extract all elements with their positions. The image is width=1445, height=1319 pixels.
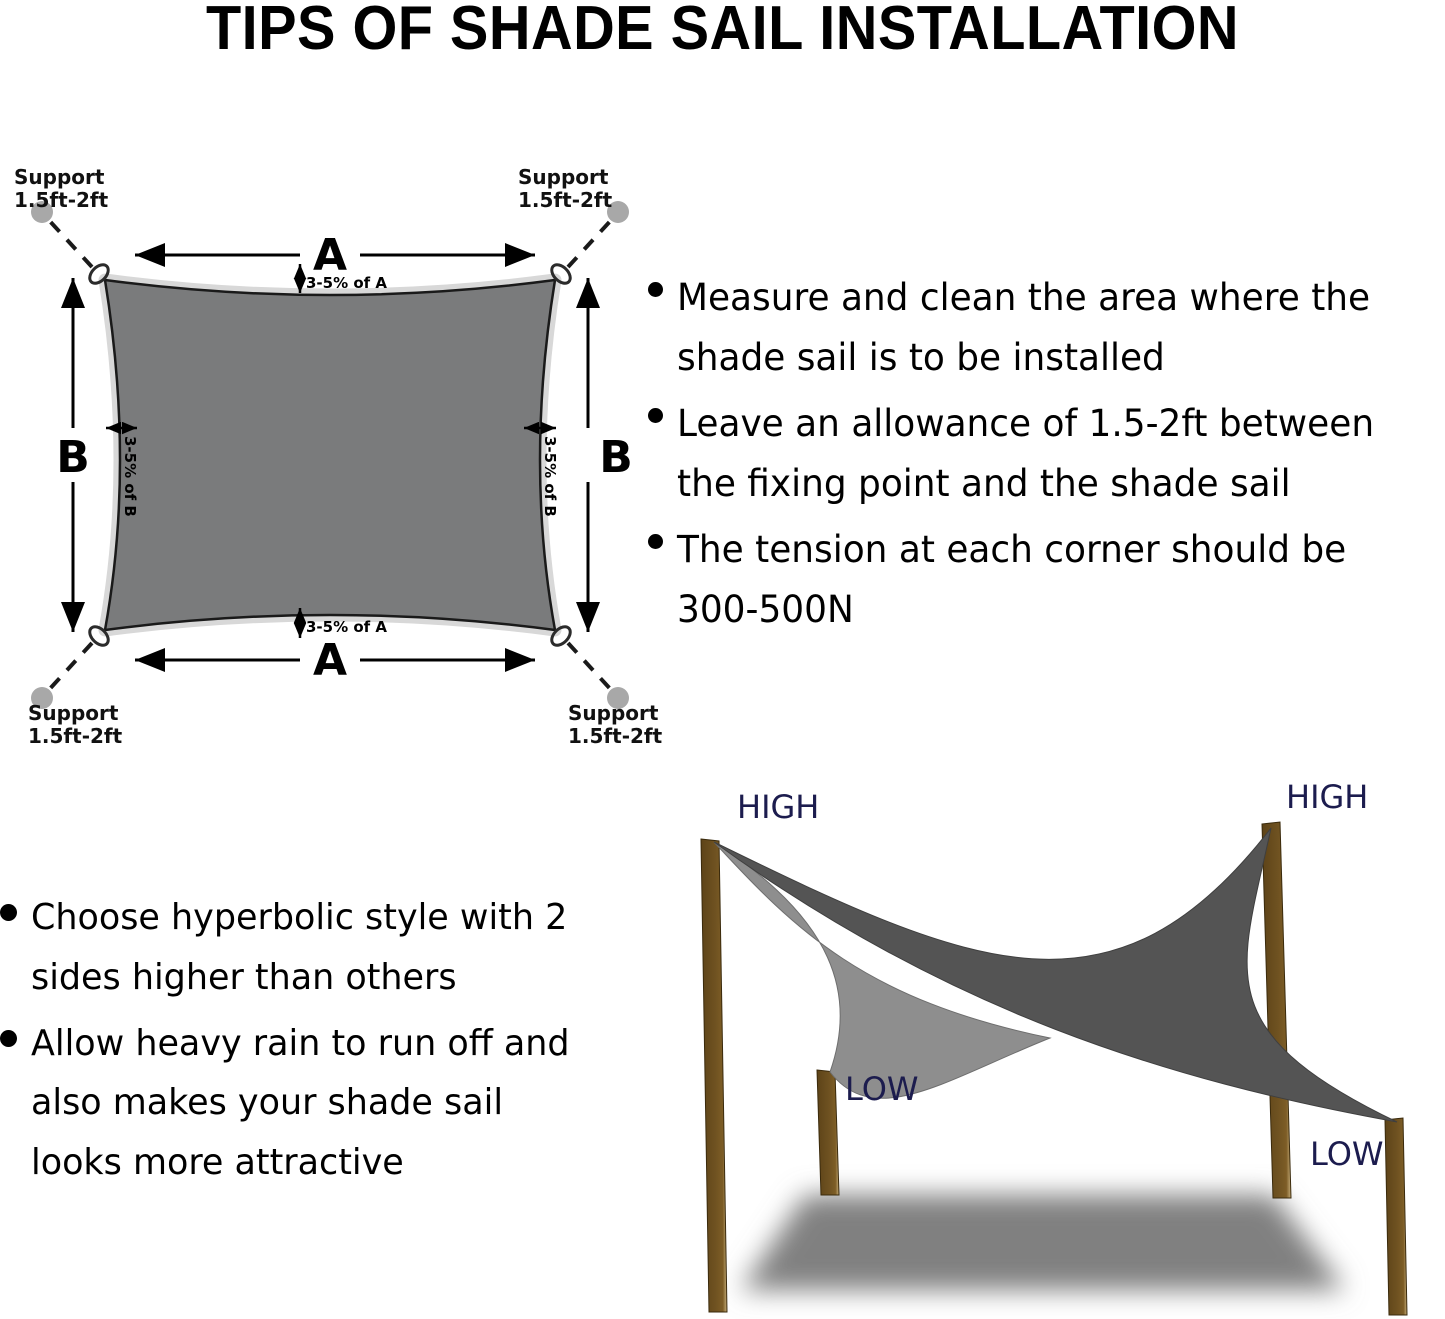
bullet-dot-icon xyxy=(0,1030,17,1047)
dimension-b-left-label: B xyxy=(56,432,90,483)
sail-shape xyxy=(105,280,555,630)
page-title: TIPS OF SHADE SAIL INSTALLATION xyxy=(51,0,1395,63)
dimension-b-right: B xyxy=(588,278,633,632)
rectangular-sail-diagram: Support 1.5ft-2ft Support 1.5ft-2ft Supp… xyxy=(0,160,660,740)
dimension-a-bottom-label: A xyxy=(313,635,347,686)
curvature-left-label: 3-5% of B xyxy=(121,436,139,517)
list-item: Choose hyperbolic style with 2 sides hig… xyxy=(0,888,620,1008)
tip-text: Allow heavy rain to run off and also mak… xyxy=(31,1014,602,1193)
bullet-dot-icon xyxy=(648,282,663,297)
dimension-a-bottom: A xyxy=(135,635,535,686)
support-label-line1: Support xyxy=(518,165,609,189)
support-label-bottom-left: Support 1.5ft-2ft xyxy=(28,701,123,748)
support-label-line2: 1.5ft-2ft xyxy=(14,188,109,212)
label-high-right: HIGH xyxy=(1286,778,1368,816)
support-label-top-right: Support 1.5ft-2ft xyxy=(518,165,613,212)
dimension-b-left: B xyxy=(56,278,90,632)
installation-tips-top-list: Measure and clean the area where the sha… xyxy=(648,268,1445,658)
support-label-top-left: Support 1.5ft-2ft xyxy=(14,165,109,212)
label-high-left: HIGH xyxy=(737,788,819,826)
ground-shadow xyxy=(741,1195,1345,1290)
bullet-dot-icon xyxy=(648,408,663,423)
bullet-dot-icon xyxy=(648,534,663,549)
support-label-line2: 1.5ft-2ft xyxy=(568,724,663,748)
support-label-line1: Support xyxy=(14,165,105,189)
support-label-bottom-right: Support 1.5ft-2ft xyxy=(568,701,663,748)
bullet-dot-icon xyxy=(0,904,17,921)
tip-text: Measure and clean the area where the sha… xyxy=(677,268,1425,388)
label-low-right: LOW xyxy=(1310,1135,1384,1173)
support-label-line2: 1.5ft-2ft xyxy=(28,724,123,748)
post-high-right xyxy=(1262,822,1291,1198)
support-label-line1: Support xyxy=(568,701,659,725)
support-label-line1: Support xyxy=(28,701,119,725)
support-label-line2: 1.5ft-2ft xyxy=(518,188,613,212)
list-item: Allow heavy rain to run off and also mak… xyxy=(0,1014,620,1193)
curvature-bottom-label: 3-5% of A xyxy=(306,618,387,636)
hyperbolic-sail-diagram: HIGH HIGH LOW LOW xyxy=(645,780,1445,1319)
tip-text: Leave an allowance of 1.5-2ft between th… xyxy=(677,394,1425,514)
post-low-left xyxy=(817,1070,839,1195)
dimension-b-right-label: B xyxy=(599,432,633,483)
curvature-left: 3-5% of B xyxy=(106,428,139,517)
tip-text: The tension at each corner should be 300… xyxy=(677,520,1425,640)
installation-tips-bottom-list: Choose hyperbolic style with 2 sides hig… xyxy=(0,888,620,1188)
list-item: Leave an allowance of 1.5-2ft between th… xyxy=(648,394,1445,514)
list-item: Measure and clean the area where the sha… xyxy=(648,268,1445,388)
list-item: The tension at each corner should be 300… xyxy=(648,520,1445,640)
curvature-top-label: 3-5% of A xyxy=(306,274,387,292)
post-low-right xyxy=(1385,1118,1407,1315)
post-high-left xyxy=(701,839,727,1312)
label-low-left: LOW xyxy=(845,1070,919,1108)
tip-text: Choose hyperbolic style with 2 sides hig… xyxy=(31,888,602,1008)
sail-surface-dark xyxy=(714,828,1397,1122)
curvature-right-label: 3-5% of B xyxy=(541,436,559,517)
